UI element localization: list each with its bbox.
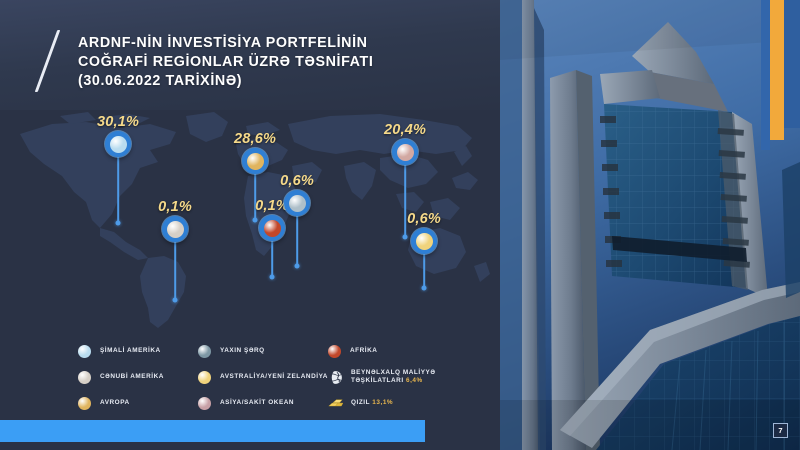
marker-value-label: 0,6% <box>280 173 314 189</box>
globe-icon <box>328 370 343 385</box>
bottom-accent-bar <box>0 420 425 442</box>
marker-stem <box>271 241 273 277</box>
legend-item-qizil[interactable]: QIZIL 13,1% <box>328 390 436 416</box>
marker-stem <box>423 254 425 288</box>
legend-item-label: YAXIN ŞƏRQ <box>220 347 265 355</box>
legend-item-label: AFRİKA <box>350 347 377 355</box>
marker-region-swatch <box>289 195 306 212</box>
legend-item-label: CƏNUBİ AMERİKA <box>100 373 164 381</box>
title-slash-decoration <box>35 30 61 92</box>
marker-value-label: 30,1% <box>97 114 139 130</box>
marker-value-label: 28,6% <box>234 131 276 147</box>
gold-bars-icon <box>328 396 343 411</box>
dot-icon <box>78 371 91 384</box>
marker-value-label: 20,4% <box>384 122 426 138</box>
accent-bar-blue <box>761 0 770 150</box>
dot-icon <box>78 345 91 358</box>
marker-stem <box>296 216 298 266</box>
building-photo: 7 <box>500 0 800 450</box>
legend-item-label: BEYNƏLXALQ MALİYYƏTƏŞKİLATLARI 6,4% <box>351 369 436 385</box>
legend-item-label: AVROPA <box>100 399 130 407</box>
legend-item-afri-ka[interactable]: AFRİKA <box>328 338 436 364</box>
marker-anchor-dot <box>173 298 178 303</box>
accent-bar-orange <box>770 0 784 140</box>
dot-icon <box>198 371 211 384</box>
legend-item-label: QIZIL 13,1% <box>351 399 393 407</box>
legend-item-label: AVSTRALİYA/YENİ ZELANDİYA <box>220 373 328 381</box>
marker-region-swatch <box>397 144 414 161</box>
legend-column-3: AFRİKABEYNƏLXALQ MALİYYƏTƏŞKİLATLARI 6,4… <box>328 338 436 416</box>
title-line-3: (30.06.2022 TARİXİNƏ) <box>78 72 458 91</box>
title-line-1: ARDNF-NİN İNVESTİSİYA PORTFELİNİN <box>78 34 458 53</box>
legend-item-yaxin-rq[interactable]: YAXIN ŞƏRQ <box>198 338 328 364</box>
marker-bubble[interactable] <box>392 139 418 165</box>
marker-bubble[interactable] <box>411 228 437 254</box>
marker-anchor-dot <box>116 221 121 226</box>
page-title: ARDNF-NİN İNVESTİSİYA PORTFELİNİN COĞRAF… <box>78 34 458 91</box>
marker-value-label: 0,6% <box>407 211 441 227</box>
marker-anchor-dot <box>422 286 427 291</box>
marker-anchor-dot <box>270 275 275 280</box>
marker-bubble[interactable] <box>259 215 285 241</box>
legend-item-asi-ya-saki-t-okean[interactable]: ASİYA/SAKİT OKEAN <box>198 390 328 416</box>
marker-bubble[interactable] <box>242 148 268 174</box>
marker-anchor-dot <box>253 218 258 223</box>
marker-region-swatch <box>110 136 127 153</box>
marker-anchor-dot <box>295 264 300 269</box>
marker-region-swatch <box>247 153 264 170</box>
dot-icon <box>198 345 211 358</box>
title-line-2: COĞRAFİ REGİONLAR ÜZRƏ TƏSNİFATI <box>78 53 458 72</box>
legend-item-label: ŞİMALİ AMERİKA <box>100 347 161 355</box>
skyscraper-illustration <box>500 0 800 450</box>
page-number-badge: 7 <box>773 423 788 438</box>
marker-value-label: 0,1% <box>158 199 192 215</box>
marker-region-swatch <box>416 233 433 250</box>
marker-region-swatch <box>167 221 184 238</box>
legend-item-i-mali-ameri-ka[interactable]: ŞİMALİ AMERİKA <box>78 338 164 364</box>
legend-item-value: 13,1% <box>372 399 393 406</box>
legend-item-label: ASİYA/SAKİT OKEAN <box>220 399 294 407</box>
marker-anchor-dot <box>403 235 408 240</box>
legend-item-beyn-lxalq-mali-yy[interactable]: BEYNƏLXALQ MALİYYƏTƏŞKİLATLARI 6,4% <box>328 364 436 390</box>
marker-stem <box>174 242 176 300</box>
legend-item-avstrali-ya-yeni-zelandi-ya[interactable]: AVSTRALİYA/YENİ ZELANDİYA <box>198 364 328 390</box>
dot-icon <box>198 397 211 410</box>
slide-canvas: ARDNF-NİN İNVESTİSİYA PORTFELİNİN COĞRAF… <box>0 0 800 450</box>
legend-column-1: ŞİMALİ AMERİKACƏNUBİ AMERİKAAVROPA <box>78 338 164 416</box>
marker-stem <box>117 157 119 223</box>
dot-icon <box>328 345 341 358</box>
page-number-value: 7 <box>778 426 782 435</box>
legend-item-avropa[interactable]: AVROPA <box>78 390 164 416</box>
marker-stem <box>404 165 406 237</box>
marker-bubble[interactable] <box>284 190 310 216</box>
legend-column-2: YAXIN ŞƏRQAVSTRALİYA/YENİ ZELANDİYAASİYA… <box>198 338 328 416</box>
left-content-panel: ARDNF-NİN İNVESTİSİYA PORTFELİNİN COĞRAF… <box>0 0 500 450</box>
marker-bubble[interactable] <box>162 216 188 242</box>
accent-bar-blue-edge <box>784 0 800 128</box>
marker-bubble[interactable] <box>105 131 131 157</box>
dot-icon <box>78 397 91 410</box>
marker-region-swatch <box>264 220 281 237</box>
legend-item-value: 6,4% <box>406 377 423 384</box>
legend-item-c-nubi-ameri-ka[interactable]: CƏNUBİ AMERİKA <box>78 364 164 390</box>
